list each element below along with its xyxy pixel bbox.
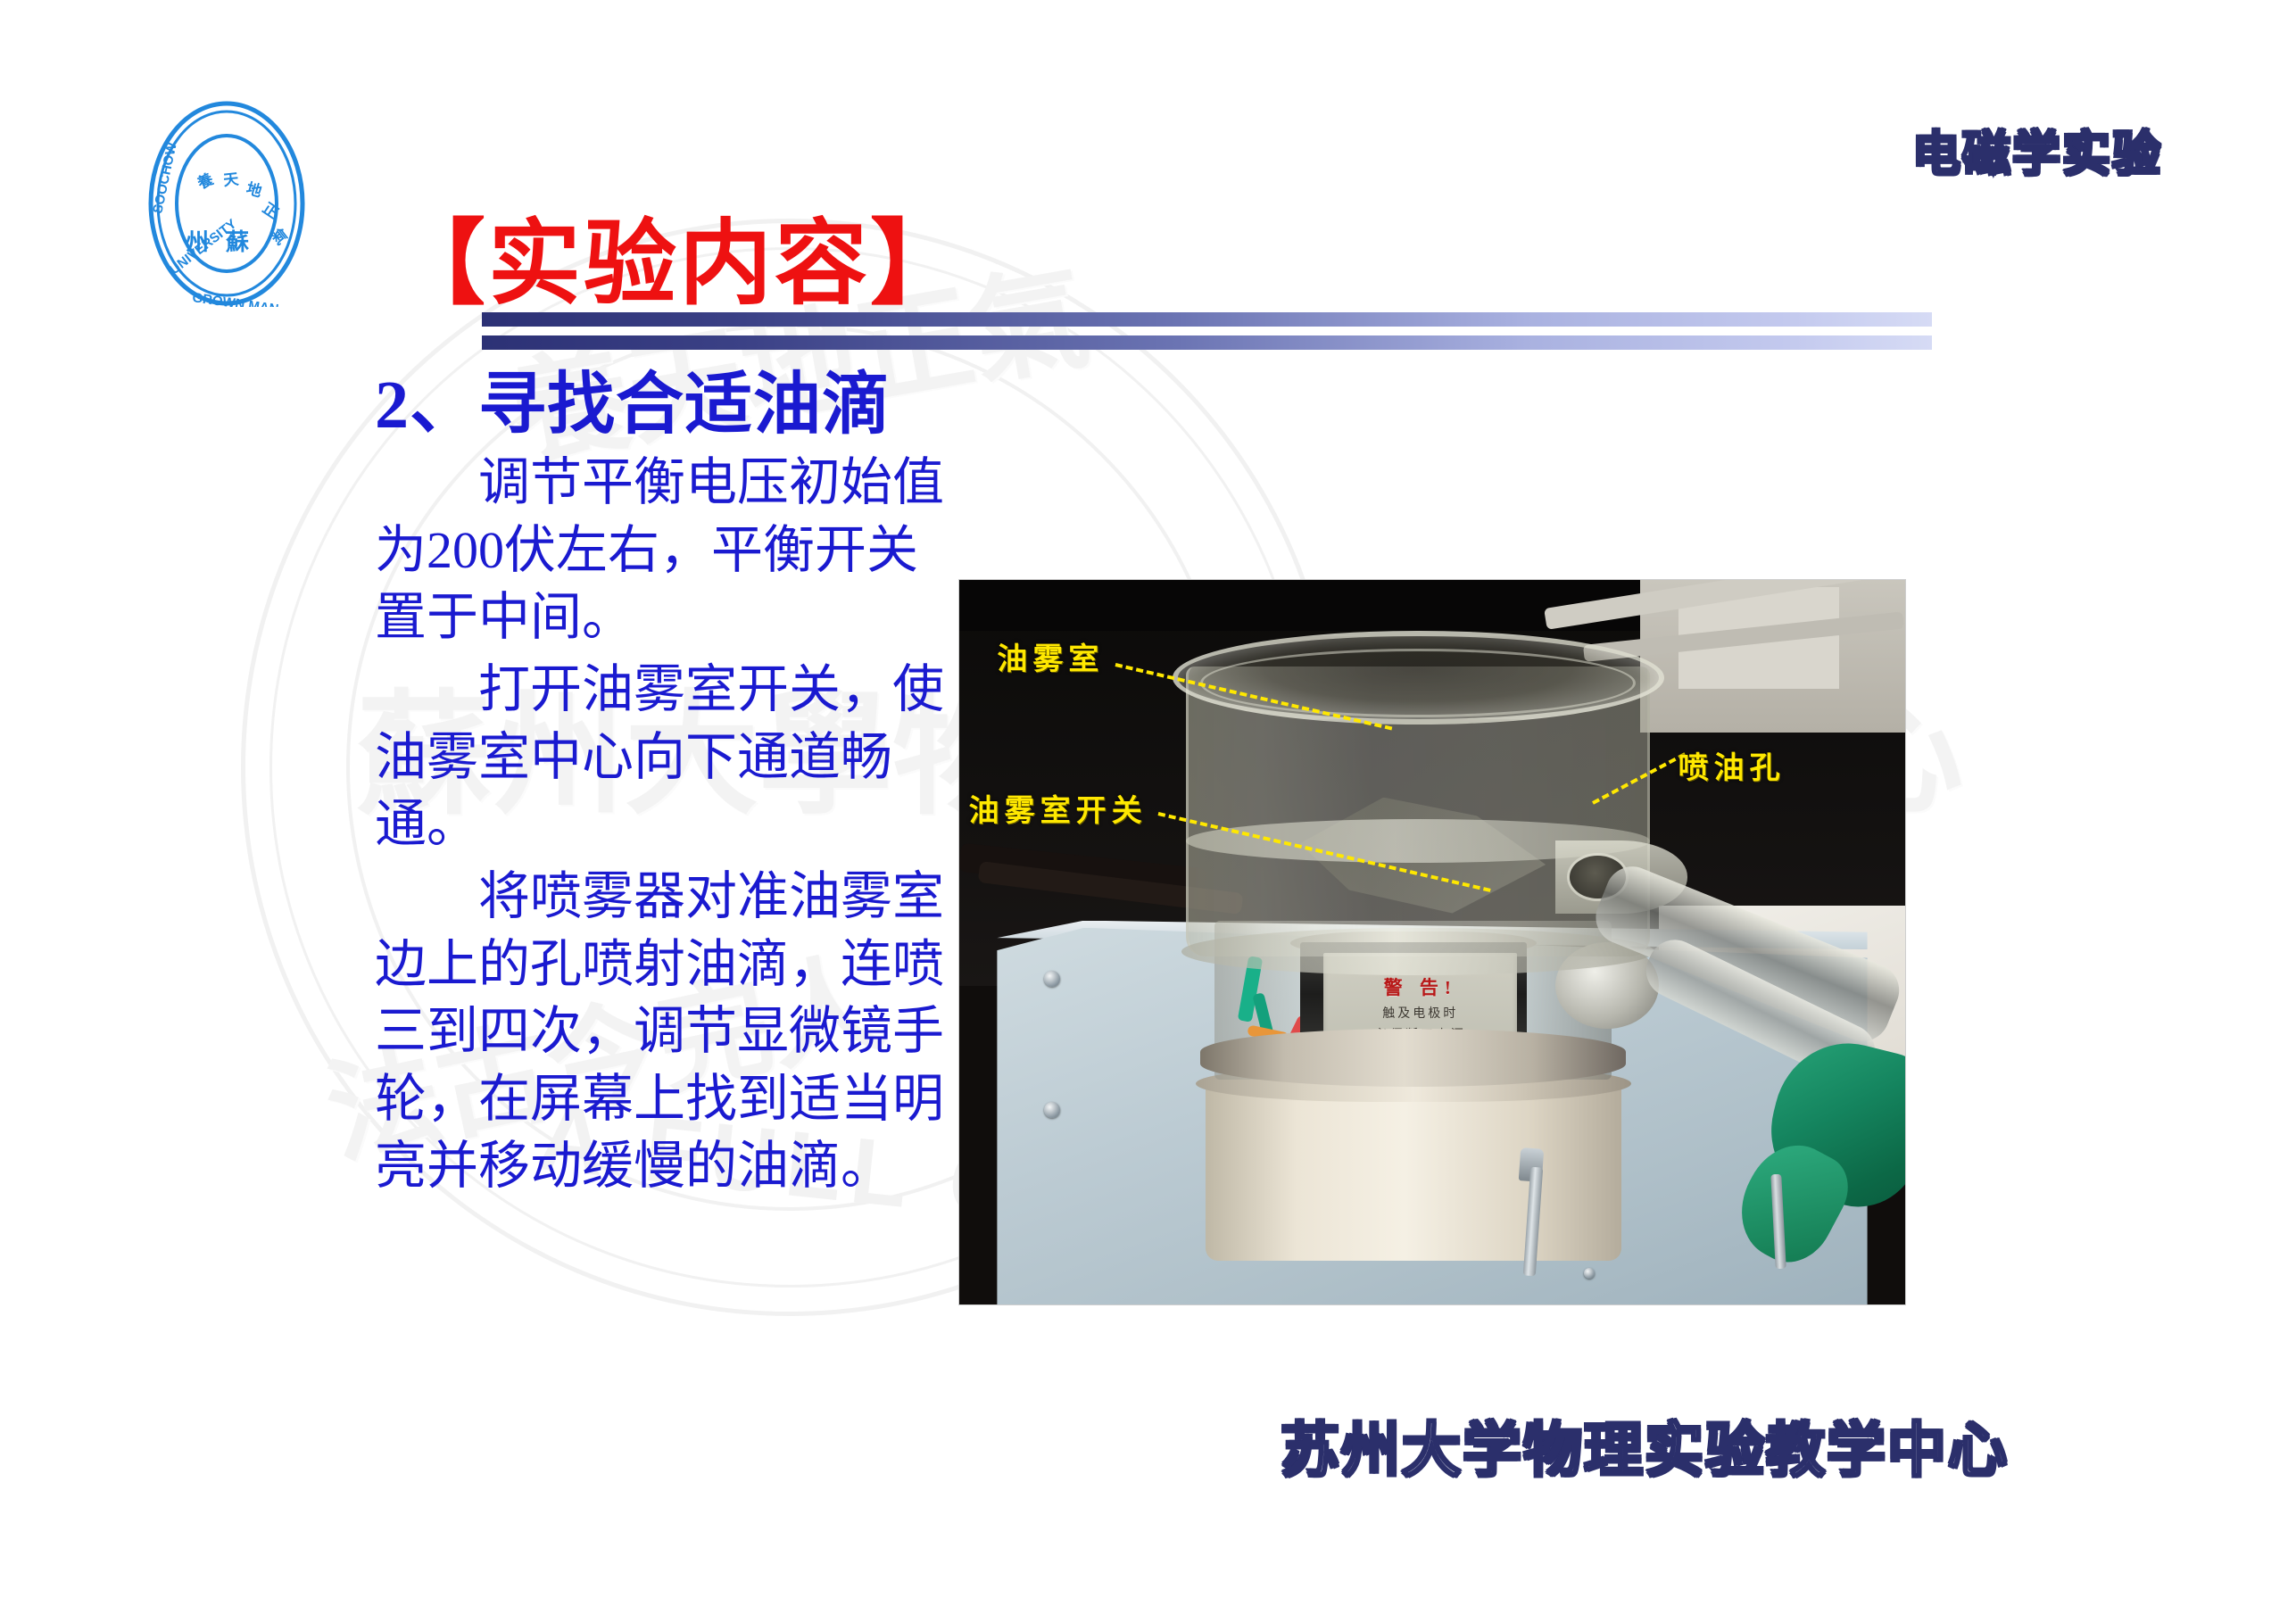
course-title-header: 电磁学实验	[1912, 114, 2162, 185]
paragraph-3: 将喷雾器对准油雾室边上的孔喷射油滴，连喷三到四次，调节显微镜手轮，在屏幕上找到适…	[375, 863, 955, 1199]
photo-chamber-bottom-ring	[1181, 928, 1654, 975]
svg-text:蘇: 蘇	[226, 228, 249, 255]
svg-text:州: 州	[186, 228, 209, 255]
page-title: 【实验内容】	[393, 187, 966, 322]
section-number: 2、	[375, 368, 478, 443]
photo-plate-screw	[1584, 1268, 1595, 1279]
svg-text:GROWN MAN: GROWN MAN	[191, 290, 279, 307]
paragraph-2: 打开油雾室开关，使油雾室中心向下通道畅通。	[375, 656, 955, 857]
apparatus-photo: 警 告! 触及电极时 必须断开电源 油雾室 油雾室开关 喷油孔	[959, 580, 1905, 1304]
photo-label-spray-hole: 喷油孔	[1678, 743, 1786, 787]
university-seal-logo: SOOCHOW UNIVERSITY GROWN MAN 養 天 地 正 氣 州…	[147, 100, 306, 307]
section-heading: 2、寻找合适油滴	[375, 368, 955, 443]
photo-apparatus-base-cylinder	[1206, 1080, 1621, 1261]
title-rule-top	[482, 312, 1932, 327]
title-rule-bottom	[482, 335, 1932, 350]
section-heading-text: 寻找合适油滴	[478, 368, 891, 443]
svg-text:養: 養	[194, 170, 216, 193]
slide-canvas: 養天地正氣 蘇州大學物理實驗示範中心 法古今完人 A FULL GROWN MA…	[0, 0, 2296, 1623]
warning-sticker-title: 警 告!	[1384, 973, 1457, 1000]
photo-mid-metal-ring	[1200, 1029, 1626, 1087]
paragraph-1: 调节平衡电压初始值为200伏左右，平衡开关置于中间。	[375, 449, 955, 650]
photo-label-chamber-switch: 油雾室开关	[969, 786, 1148, 830]
svg-text:地: 地	[245, 179, 264, 201]
warning-sticker-line-1: 触及电极时	[1382, 1004, 1458, 1022]
photo-plate-screw	[1044, 1102, 1060, 1118]
photo-label-chamber: 油雾室	[997, 634, 1104, 678]
svg-text:天: 天	[222, 170, 240, 189]
photo-chamber-inner-rim	[1200, 649, 1636, 717]
content-column: 2、寻找合适油滴 调节平衡电压初始值为200伏左右，平衡开关置于中间。 打开油雾…	[375, 368, 955, 1199]
footer-organization: 苏州大学物理实验教学中心	[1281, 1403, 2009, 1488]
